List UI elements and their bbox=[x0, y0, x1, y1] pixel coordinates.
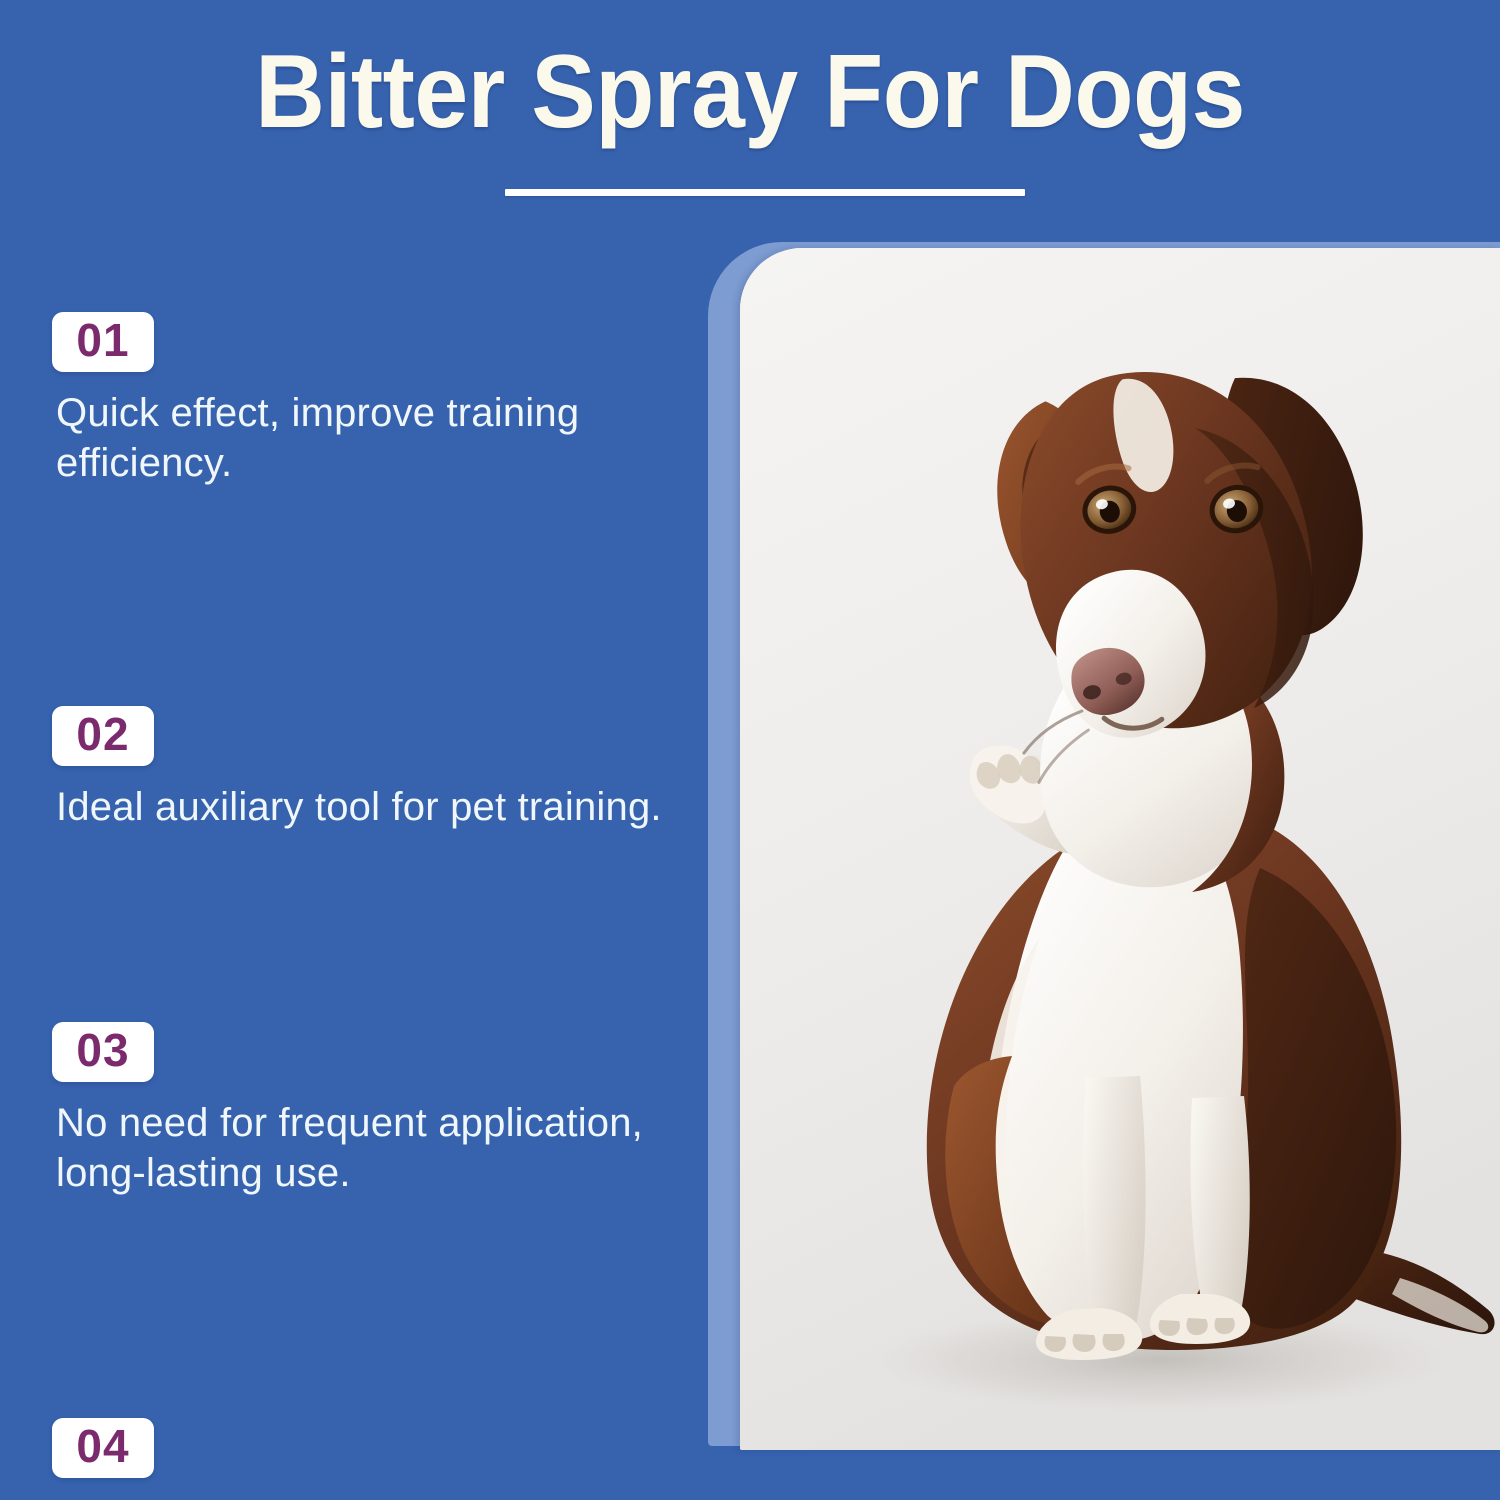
product-photo-panel bbox=[740, 248, 1500, 1450]
badge-number-label: 03 bbox=[67, 1025, 139, 1076]
feature-number-badge-03: 03 bbox=[52, 1022, 154, 1082]
page-title: Bitter Spray For Dogs bbox=[53, 36, 1448, 148]
dog-front-leg-left bbox=[1083, 1076, 1145, 1343]
feature-item-01: 01 Quick effect, improve training effici… bbox=[52, 312, 692, 488]
feature-description-01: Quick effect, improve training efficienc… bbox=[56, 388, 692, 488]
dog-photo-illustration bbox=[740, 248, 1500, 1450]
product-infographic-poster: Bitter Spray For Dogs 01 Quick effect, i… bbox=[0, 0, 1500, 1500]
feature-number-badge-01: 01 bbox=[52, 312, 154, 372]
dog-front-leg-right bbox=[1190, 1096, 1249, 1323]
feature-description-03: No need for frequent application, long-l… bbox=[56, 1098, 692, 1198]
feature-number-badge-02: 02 bbox=[52, 706, 154, 766]
feature-number-badge-04: 04 bbox=[52, 1418, 154, 1478]
title-divider bbox=[505, 189, 1025, 196]
feature-description-02: Ideal auxiliary tool for pet training. bbox=[56, 782, 692, 832]
badge-number-label: 01 bbox=[67, 315, 139, 366]
badge-number-label: 02 bbox=[67, 709, 139, 760]
feature-item-03: 03 No need for frequent application, lon… bbox=[52, 1022, 692, 1198]
feature-description-04: Effectively inhibit bad habits of pets. bbox=[56, 1494, 692, 1500]
feature-item-02: 02 Ideal auxiliary tool for pet training… bbox=[52, 706, 692, 832]
badge-number-label: 04 bbox=[67, 1421, 139, 1472]
feature-item-04: 04 Effectively inhibit bad habits of pet… bbox=[52, 1418, 692, 1500]
poster-header: Bitter Spray For Dogs bbox=[0, 0, 1500, 230]
feature-list: 01 Quick effect, improve training effici… bbox=[52, 312, 692, 966]
